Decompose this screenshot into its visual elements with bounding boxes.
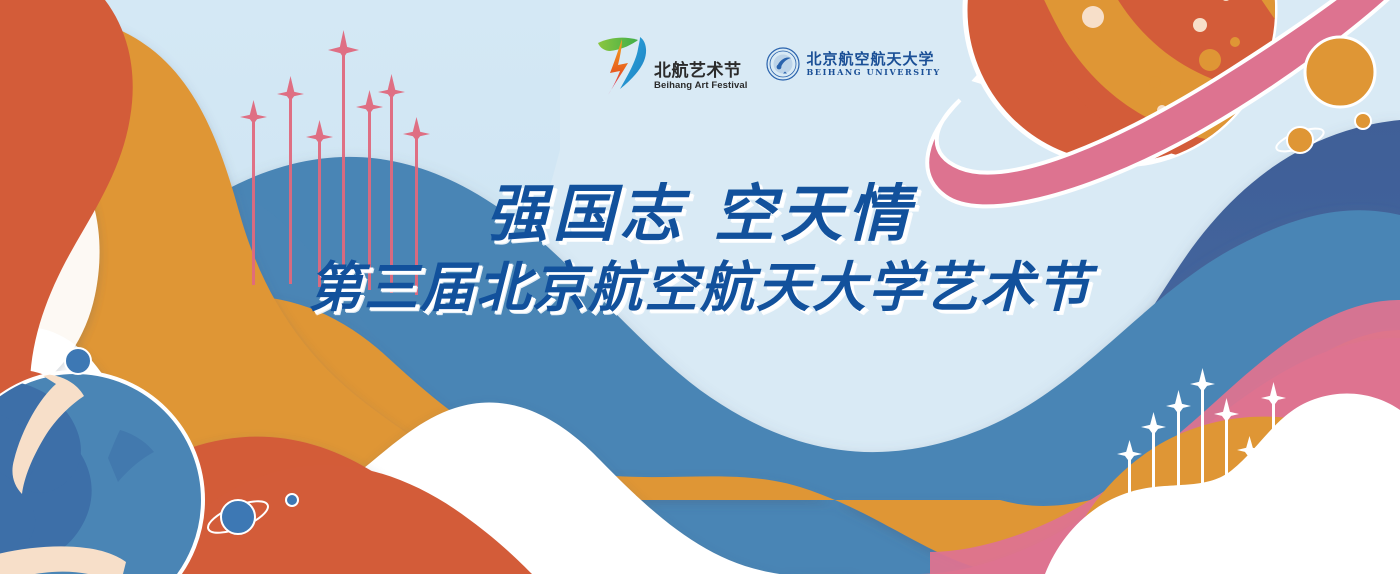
beihang-art-festival-logo: 北航艺术节 Beihang Art Festival — [596, 33, 748, 95]
festival-name-cn: 北航艺术节 — [654, 61, 742, 81]
beihang-university-logo: 北京航空航天大学 BEIHANG UNIVERSITY — [766, 47, 941, 81]
logo-row: 北航艺术节 Beihang Art Festival 北京航空航天大学 BEIH… — [596, 28, 896, 100]
beihang-art-festival-text: 北航艺术节 Beihang Art Festival — [654, 61, 748, 95]
planet-orange-tiny — [1355, 113, 1371, 129]
beihang-university-text: 北京航空航天大学 BEIHANG UNIVERSITY — [807, 50, 941, 78]
festival-name-en: Beihang Art Festival — [654, 81, 748, 91]
planet-blue-dot — [65, 348, 91, 374]
art-festival-banner: 北航艺术节 Beihang Art Festival 北京航空航天大学 BEIH… — [0, 0, 1400, 574]
planet-blue-tiny — [286, 494, 298, 506]
planet-orange-dot — [1305, 37, 1375, 107]
university-name-en: BEIHANG UNIVERSITY — [807, 68, 941, 78]
beihang-art-festival-mark-icon — [596, 33, 652, 95]
beihang-university-seal-icon — [766, 47, 800, 81]
university-name-cn: 北京航空航天大学 — [807, 50, 935, 68]
